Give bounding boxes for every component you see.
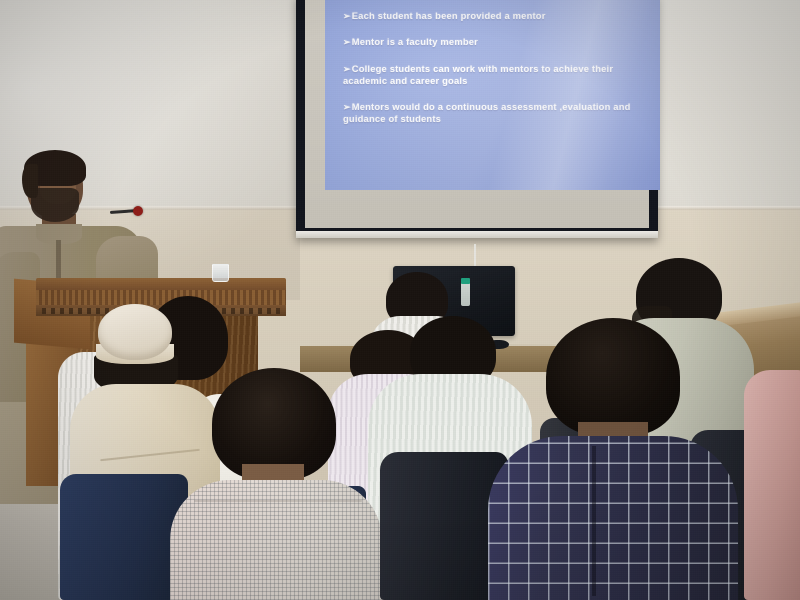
water-bottle (461, 282, 470, 306)
bullet-arrow-icon: ➢ (343, 102, 351, 112)
presenter-hair-side (22, 164, 38, 198)
slide-bullet-4-text: Mentors would do a continuous assessment… (343, 101, 631, 124)
chair (60, 474, 188, 600)
head-hair (546, 318, 680, 436)
shirt-placket (592, 446, 596, 596)
water-glass (212, 264, 229, 282)
audience-member-pink-shirt-edge (744, 370, 800, 600)
slide-bullet-2: ➢Mentor is a faculty member (343, 36, 654, 48)
bullet-arrow-icon: ➢ (343, 64, 351, 74)
shirt-yoke-seam (194, 500, 362, 502)
projected-slide: ➢Each student has been provided a mentor… (325, 0, 660, 190)
shirt (170, 480, 382, 600)
bullet-arrow-icon: ➢ (343, 37, 351, 47)
slide-bullet-list: ➢Each student has been provided a mentor… (343, 10, 654, 138)
slide-bullet-4: ➢Mentors would do a continuous assessmen… (343, 101, 654, 126)
screen-bottom-bar (296, 231, 658, 238)
presenter-beard (31, 188, 79, 222)
slide-bullet-1-text: Each student has been provided a mentor (352, 10, 546, 21)
screen-surface: ➢Each student has been provided a mentor… (305, 0, 649, 228)
audience-member-light-check-shirt (176, 368, 372, 600)
shirt (744, 370, 800, 600)
bullet-arrow-icon: ➢ (343, 11, 351, 21)
projector-screen: ➢Each student has been provided a mentor… (296, 0, 658, 238)
slide-bullet-3-text: College students can work with mentors t… (343, 63, 613, 86)
prayer-cap (98, 304, 172, 360)
seminar-hall-photo: ➢Each student has been provided a mentor… (0, 0, 800, 600)
microphone-icon (133, 206, 143, 216)
water-bottle-cap (461, 278, 470, 284)
slide-bullet-2-text: Mentor is a faculty member (352, 36, 478, 47)
slide-bullet-3: ➢College students can work with mentors … (343, 63, 654, 88)
audience-member-navy-plaid-shirt (500, 318, 730, 600)
slide-bullet-1: ➢Each student has been provided a mentor (343, 10, 654, 22)
shirt (488, 436, 738, 600)
